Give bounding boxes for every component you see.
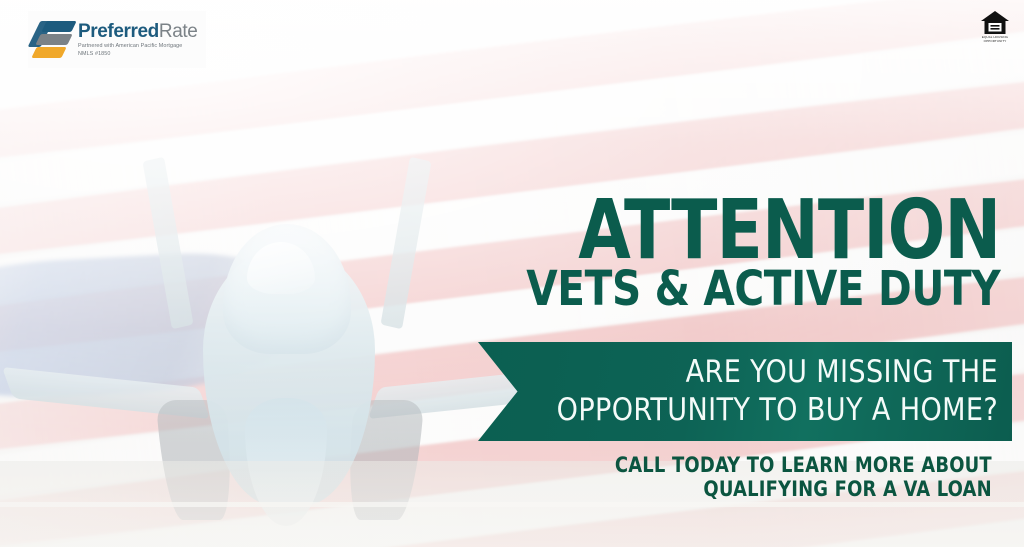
logo-tagline: Partnered with American Pacific Mortgage bbox=[78, 44, 197, 49]
logo-nmls-number: NMLS #1850 bbox=[78, 52, 197, 57]
cta-line-1: CALL TODAY TO LEARN MORE ABOUT bbox=[615, 453, 992, 477]
headline-line-attention: ATTENTION bbox=[536, 196, 1000, 267]
equal-housing-caption-line2: OPPORTUNITY bbox=[976, 40, 1014, 44]
preferred-rate-logo[interactable]: PreferredRate Partnered with American Pa… bbox=[28, 11, 206, 68]
headline: ATTENTION VETS & ACTIVE DUTY bbox=[496, 196, 1000, 310]
logo-wordmark: PreferredRate bbox=[78, 22, 197, 41]
preferred-rate-s-mark-icon bbox=[34, 19, 74, 61]
logo-text-block: PreferredRate Partnered with American Pa… bbox=[78, 22, 197, 57]
equal-housing-opportunity-icon: EQUAL HOUSING OPPORTUNITY bbox=[980, 10, 1010, 44]
question-ribbon: ARE YOU MISSING THE OPPORTUNITY TO BUY A… bbox=[478, 342, 1012, 441]
va-loan-promo-banner: PreferredRate Partnered with American Pa… bbox=[0, 0, 1024, 547]
headline-line-vets-active-duty: VETS & ACTIVE DUTY bbox=[526, 269, 1000, 310]
logo-word-preferred: Preferred bbox=[78, 21, 159, 42]
ribbon-line-2: OPPORTUNITY TO BUY A HOME? bbox=[557, 392, 998, 430]
cta-line-2: QUALIFYING FOR A VA LOAN bbox=[615, 477, 992, 501]
equal-housing-caption: EQUAL HOUSING OPPORTUNITY bbox=[976, 36, 1014, 44]
call-to-action: CALL TODAY TO LEARN MORE ABOUT QUALIFYIN… bbox=[595, 453, 992, 501]
ribbon-line-1: ARE YOU MISSING THE bbox=[686, 354, 998, 392]
logo-word-rate: Rate bbox=[159, 21, 198, 42]
